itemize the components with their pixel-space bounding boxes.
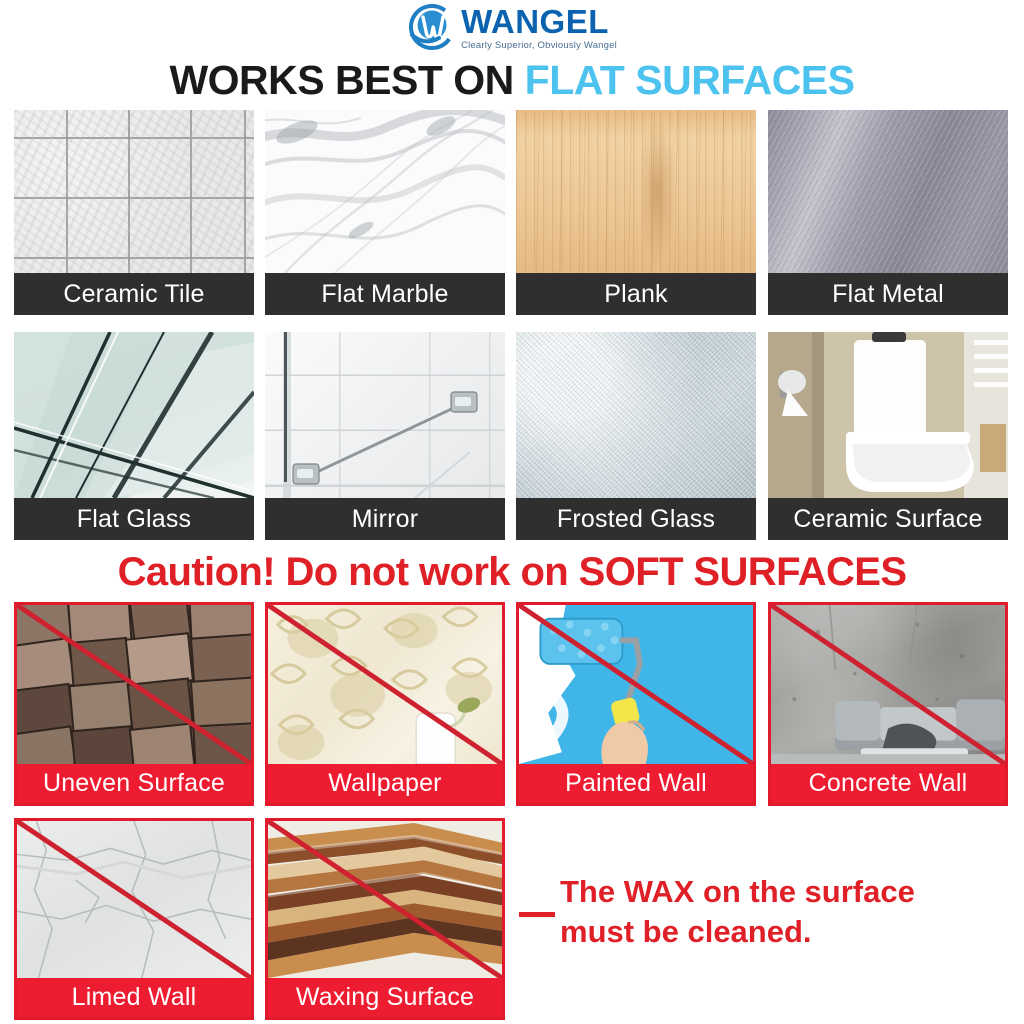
surface-label: Flat Glass (14, 498, 254, 540)
wax-note-connector (519, 912, 555, 917)
surface-label: Ceramic Surface (768, 498, 1008, 540)
bad-surface-label: Uneven Surface (14, 764, 254, 806)
bad-surface-image (516, 602, 756, 764)
bad-surface-card-painted-wall: Painted Wall (516, 602, 756, 806)
surface-card-mirror: Mirror (265, 332, 505, 540)
surface-card-flat-marble: Flat Marble (265, 110, 505, 315)
bad-surface-label: Concrete Wall (768, 764, 1008, 806)
surface-card-plank: Plank (516, 110, 756, 315)
bad-surface-label: Waxing Surface (265, 978, 505, 1020)
bad-surface-label: Painted Wall (516, 764, 756, 806)
page-title: WORKS BEST ON FLAT SURFACES (0, 57, 1024, 104)
headline-highlight: FLAT SURFACES (525, 57, 855, 103)
caution-heading: Caution! Do not work on SOFT SURFACES (0, 550, 1024, 595)
surface-card-ceramic-surface: Ceramic Surface (768, 332, 1008, 540)
surface-label: Flat Metal (768, 273, 1008, 315)
bad-surface-card-wallpaper: Wallpaper (265, 602, 505, 806)
surface-card-frosted-glass: Frosted Glass (516, 332, 756, 540)
bad-surface-card-uneven-surface: Uneven Surface (14, 602, 254, 806)
headline-prefix: WORKS BEST ON (169, 57, 524, 103)
wax-note-line-2: must be cleaned. (560, 912, 1020, 952)
bad-surface-label: Wallpaper (265, 764, 505, 806)
surface-card-ceramic-tile: Ceramic Tile (14, 110, 254, 315)
bad-surface-card-limed-wall: Limed Wall (14, 818, 254, 1020)
surface-image (265, 332, 505, 498)
surface-label: Frosted Glass (516, 498, 756, 540)
surface-image (768, 110, 1008, 273)
brand-tagline: Clearly Superior, Obviously Wangel (461, 40, 617, 51)
surface-card-flat-metal: Flat Metal (768, 110, 1008, 315)
surface-image (768, 332, 1008, 498)
bad-surface-card-concrete-wall: Concrete Wall (768, 602, 1008, 806)
bad-surface-image (265, 602, 505, 764)
wax-note-line-1: The WAX on the surface (560, 872, 1020, 912)
surface-label: Plank (516, 273, 756, 315)
surface-image (516, 332, 756, 498)
bad-surface-image (14, 818, 254, 978)
surface-label: Mirror (265, 498, 505, 540)
surface-image (14, 332, 254, 498)
bad-surface-label: Limed Wall (14, 978, 254, 1020)
surface-card-flat-glass: Flat Glass (14, 332, 254, 540)
surface-image (265, 110, 505, 273)
wax-note: The WAX on the surface must be cleaned. (560, 872, 1020, 951)
bad-surface-card-waxing-surface: Waxing Surface (265, 818, 505, 1020)
surface-label: Ceramic Tile (14, 273, 254, 315)
bad-surface-image (768, 602, 1008, 764)
wangel-globe-w-icon (407, 4, 457, 52)
bad-surface-image (265, 818, 505, 978)
surface-label: Flat Marble (265, 273, 505, 315)
bad-surface-image (14, 602, 254, 764)
infographic-page: WANGEL Clearly Superior, Obviously Wange… (0, 0, 1024, 1024)
surface-image (516, 110, 756, 273)
brand-logo: WANGEL Clearly Superior, Obviously Wange… (0, 2, 1024, 54)
brand-name: WANGEL (461, 5, 609, 38)
surface-image (14, 110, 254, 273)
